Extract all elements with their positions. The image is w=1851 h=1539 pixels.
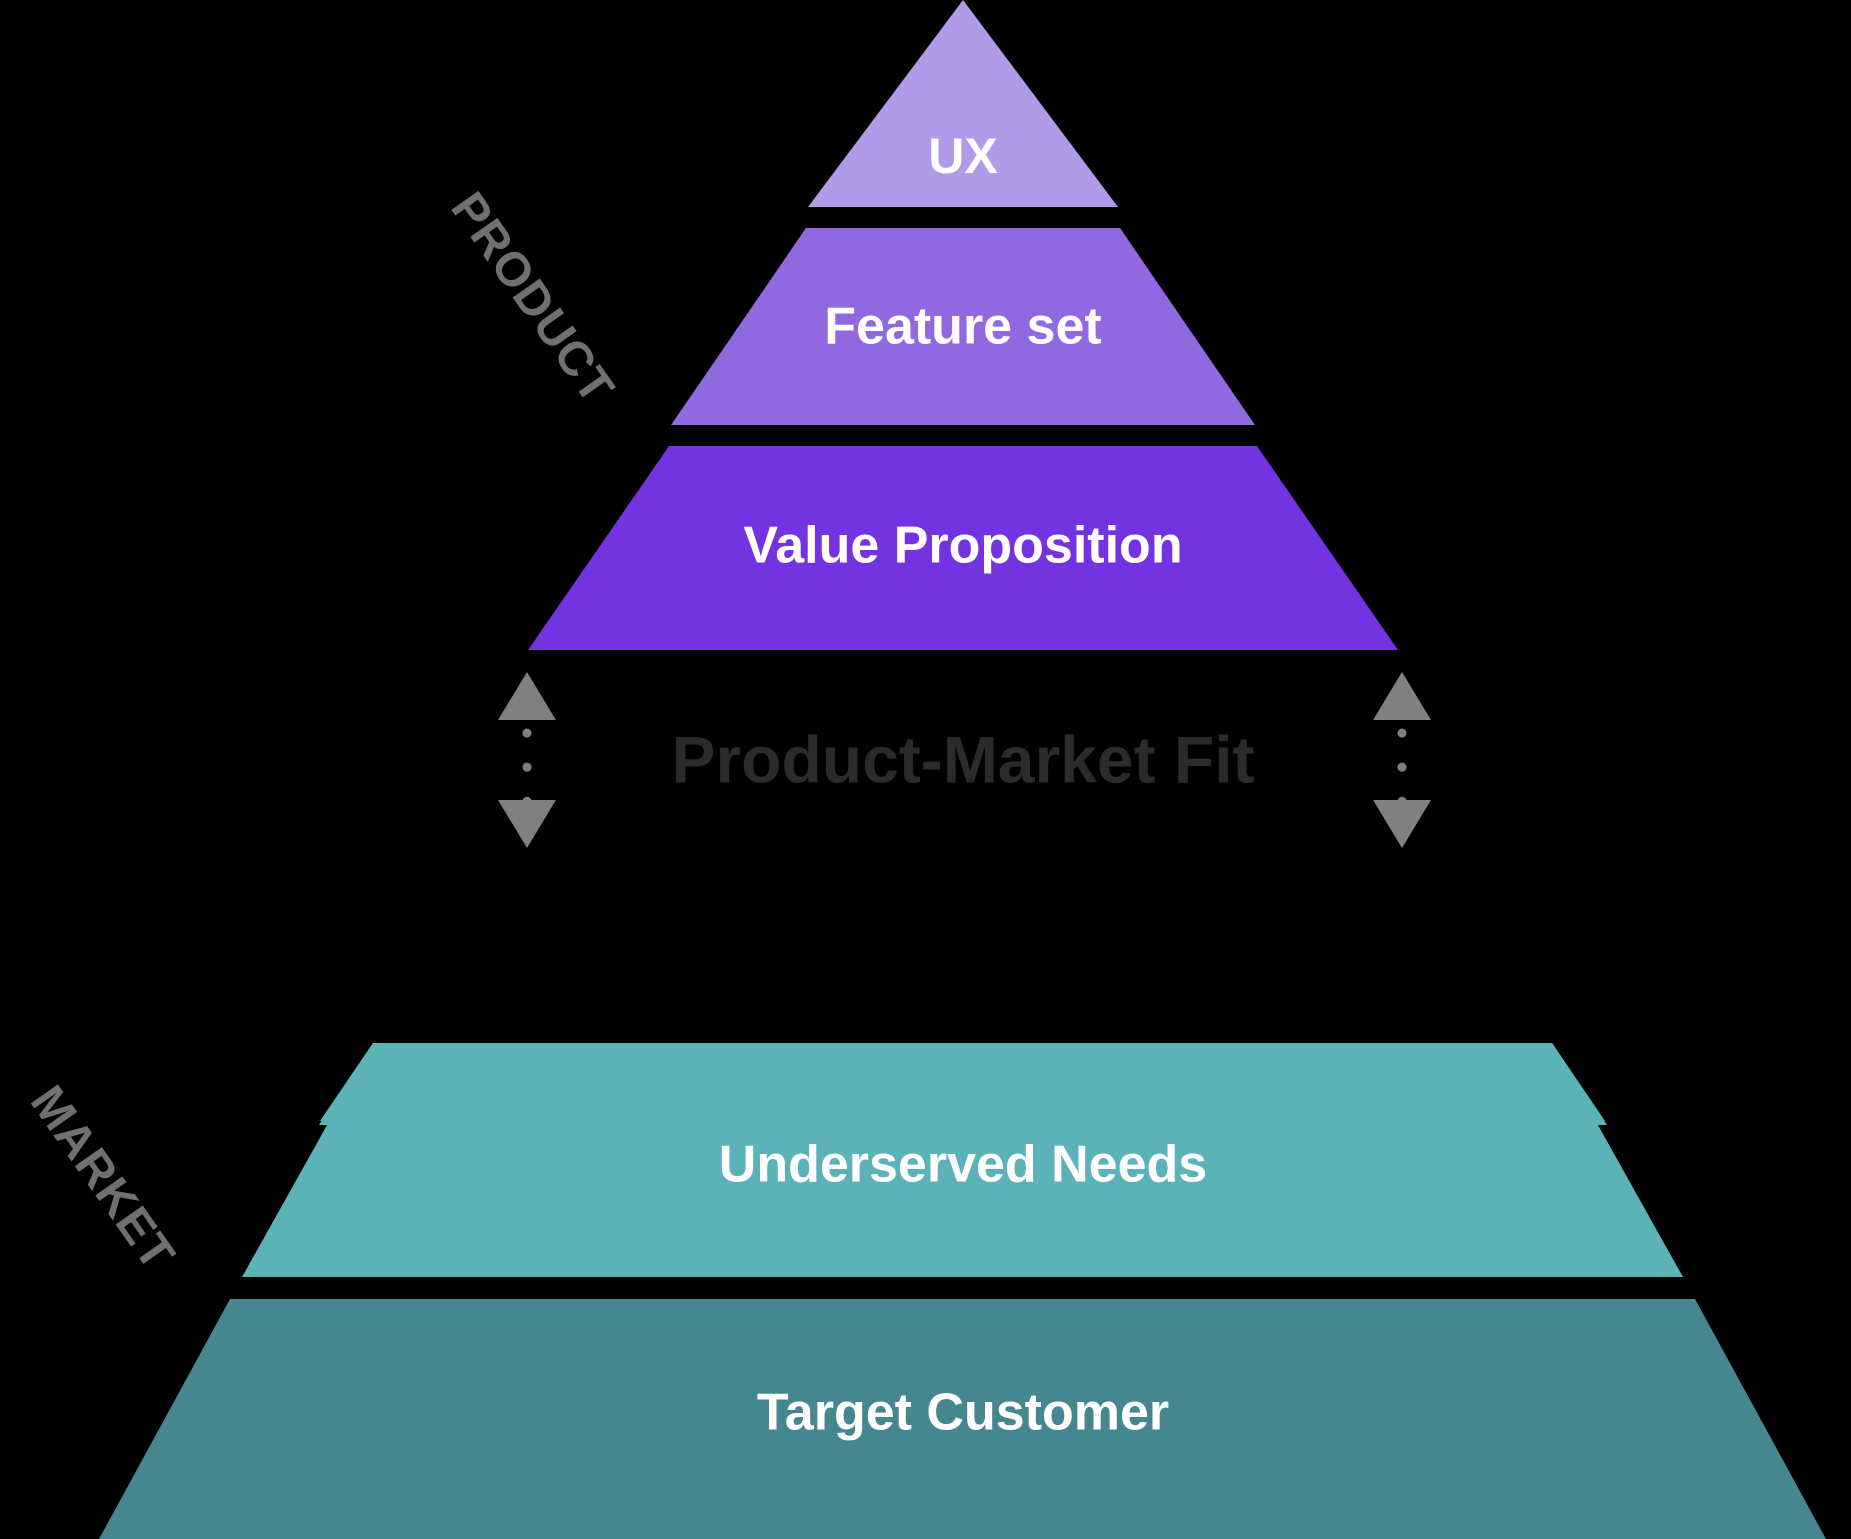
layer-ux-label: UX (928, 128, 997, 184)
pmf-caption: Product-Market Fit (671, 722, 1254, 796)
layer-underserved-needs[interactable]: Underserved Needs (242, 1043, 1683, 1277)
layer-value-proposition[interactable]: Value Proposition (528, 446, 1398, 650)
layer-target-customer[interactable]: Target Customer (99, 1299, 1826, 1539)
layer-value-proposition-label: Value Proposition (743, 517, 1182, 575)
layer-underserved-needs-label: Underserved Needs (719, 1136, 1207, 1194)
layer-ux[interactable]: UX (808, 0, 1118, 207)
group-label-product: PRODUCT (441, 183, 625, 414)
group-label-market: MARKET (20, 1077, 185, 1281)
pmf-arrow-right (1373, 672, 1431, 848)
group-label-product-text: PRODUCT (441, 183, 625, 414)
pmf-arrow-right-head-up (1373, 672, 1431, 720)
pmf-arrow-left-head-up (498, 672, 556, 720)
pmf-arrow-left-head-down (498, 800, 556, 848)
product-market-fit-pyramid: UX Feature set Value Proposition PRODUCT (0, 0, 1851, 1539)
pmf-arrow-left (498, 672, 556, 848)
layer-target-customer-label: Target Customer (757, 1384, 1169, 1442)
layer-feature-set[interactable]: Feature set (671, 228, 1255, 425)
group-label-market-text: MARKET (20, 1077, 185, 1281)
layer-feature-set-label: Feature set (824, 298, 1101, 356)
diagram-canvas: UX Feature set Value Proposition PRODUCT (0, 0, 1851, 1539)
pmf-arrow-right-head-down (1373, 800, 1431, 848)
